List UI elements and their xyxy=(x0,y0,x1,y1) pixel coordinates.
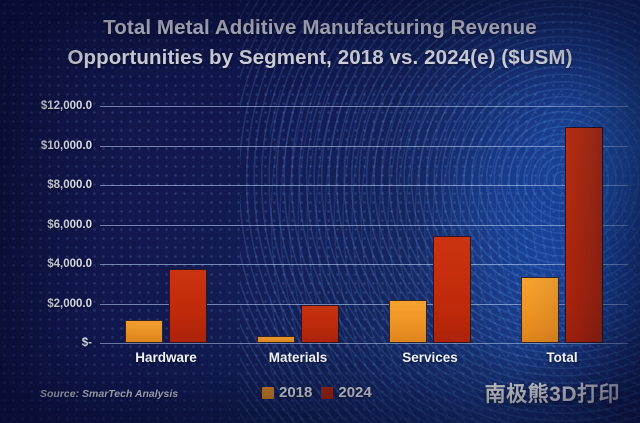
plot-area xyxy=(100,106,628,343)
gridline xyxy=(100,343,628,344)
x-axis-category-label-hardware: Hardware xyxy=(135,350,197,365)
bar-services-2018[interactable] xyxy=(389,300,427,343)
x-axis-category-label-total: Total xyxy=(546,350,577,365)
y-axis-tick-label: $2,000.0 xyxy=(47,298,92,310)
legend-item-2018[interactable]: 2018 xyxy=(262,384,312,401)
chart-title-line-1: Total Metal Additive Manufacturing Reven… xyxy=(103,16,537,39)
legend-label-2024: 2024 xyxy=(338,384,371,401)
bar-total-2018[interactable] xyxy=(521,277,559,343)
x-axis-category-label-services: Services xyxy=(402,350,458,365)
chart-canvas: Total Metal Additive Manufacturing Reven… xyxy=(0,0,640,423)
bar-materials-2018[interactable] xyxy=(257,336,295,343)
gridline xyxy=(100,185,628,186)
y-axis-tick-label: $12,000.0 xyxy=(41,100,92,112)
y-axis-tick-label: $- xyxy=(82,337,92,349)
y-axis-tick-label: $10,000.0 xyxy=(41,140,92,152)
bar-materials-2024[interactable] xyxy=(301,305,339,344)
y-axis-tick-label: $6,000.0 xyxy=(47,219,92,231)
chart-legend: 20182024 xyxy=(262,384,372,401)
source-note: Source: SmarTech Analysis xyxy=(40,388,178,400)
bar-total-2024[interactable] xyxy=(565,127,603,343)
legend-swatch-icon-2024 xyxy=(321,387,333,399)
y-axis-tick-label: $8,000.0 xyxy=(47,179,92,191)
bar-services-2024[interactable] xyxy=(433,236,471,343)
bar-hardware-2024[interactable] xyxy=(169,269,207,343)
gridline xyxy=(100,225,628,226)
y-axis-tick-label: $4,000.0 xyxy=(47,258,92,270)
watermark-label: 南极熊3D打印 xyxy=(485,378,620,408)
gridline xyxy=(100,106,628,107)
legend-swatch-icon-2018 xyxy=(262,387,274,399)
gridline xyxy=(100,264,628,265)
chart-title: Total Metal Additive Manufacturing Reven… xyxy=(0,13,640,73)
chart-title-line-2: Opportunities by Segment, 2018 vs. 2024(… xyxy=(0,43,640,73)
legend-item-2024[interactable]: 2024 xyxy=(321,384,371,401)
gridline xyxy=(100,146,628,147)
legend-label-2018: 2018 xyxy=(279,384,312,401)
x-axis-category-label-materials: Materials xyxy=(269,350,328,365)
y-axis-tick-labels: $12,000.0$10,000.0$8,000.0$6,000.0$4,000… xyxy=(0,106,96,343)
bar-hardware-2018[interactable] xyxy=(125,320,163,343)
